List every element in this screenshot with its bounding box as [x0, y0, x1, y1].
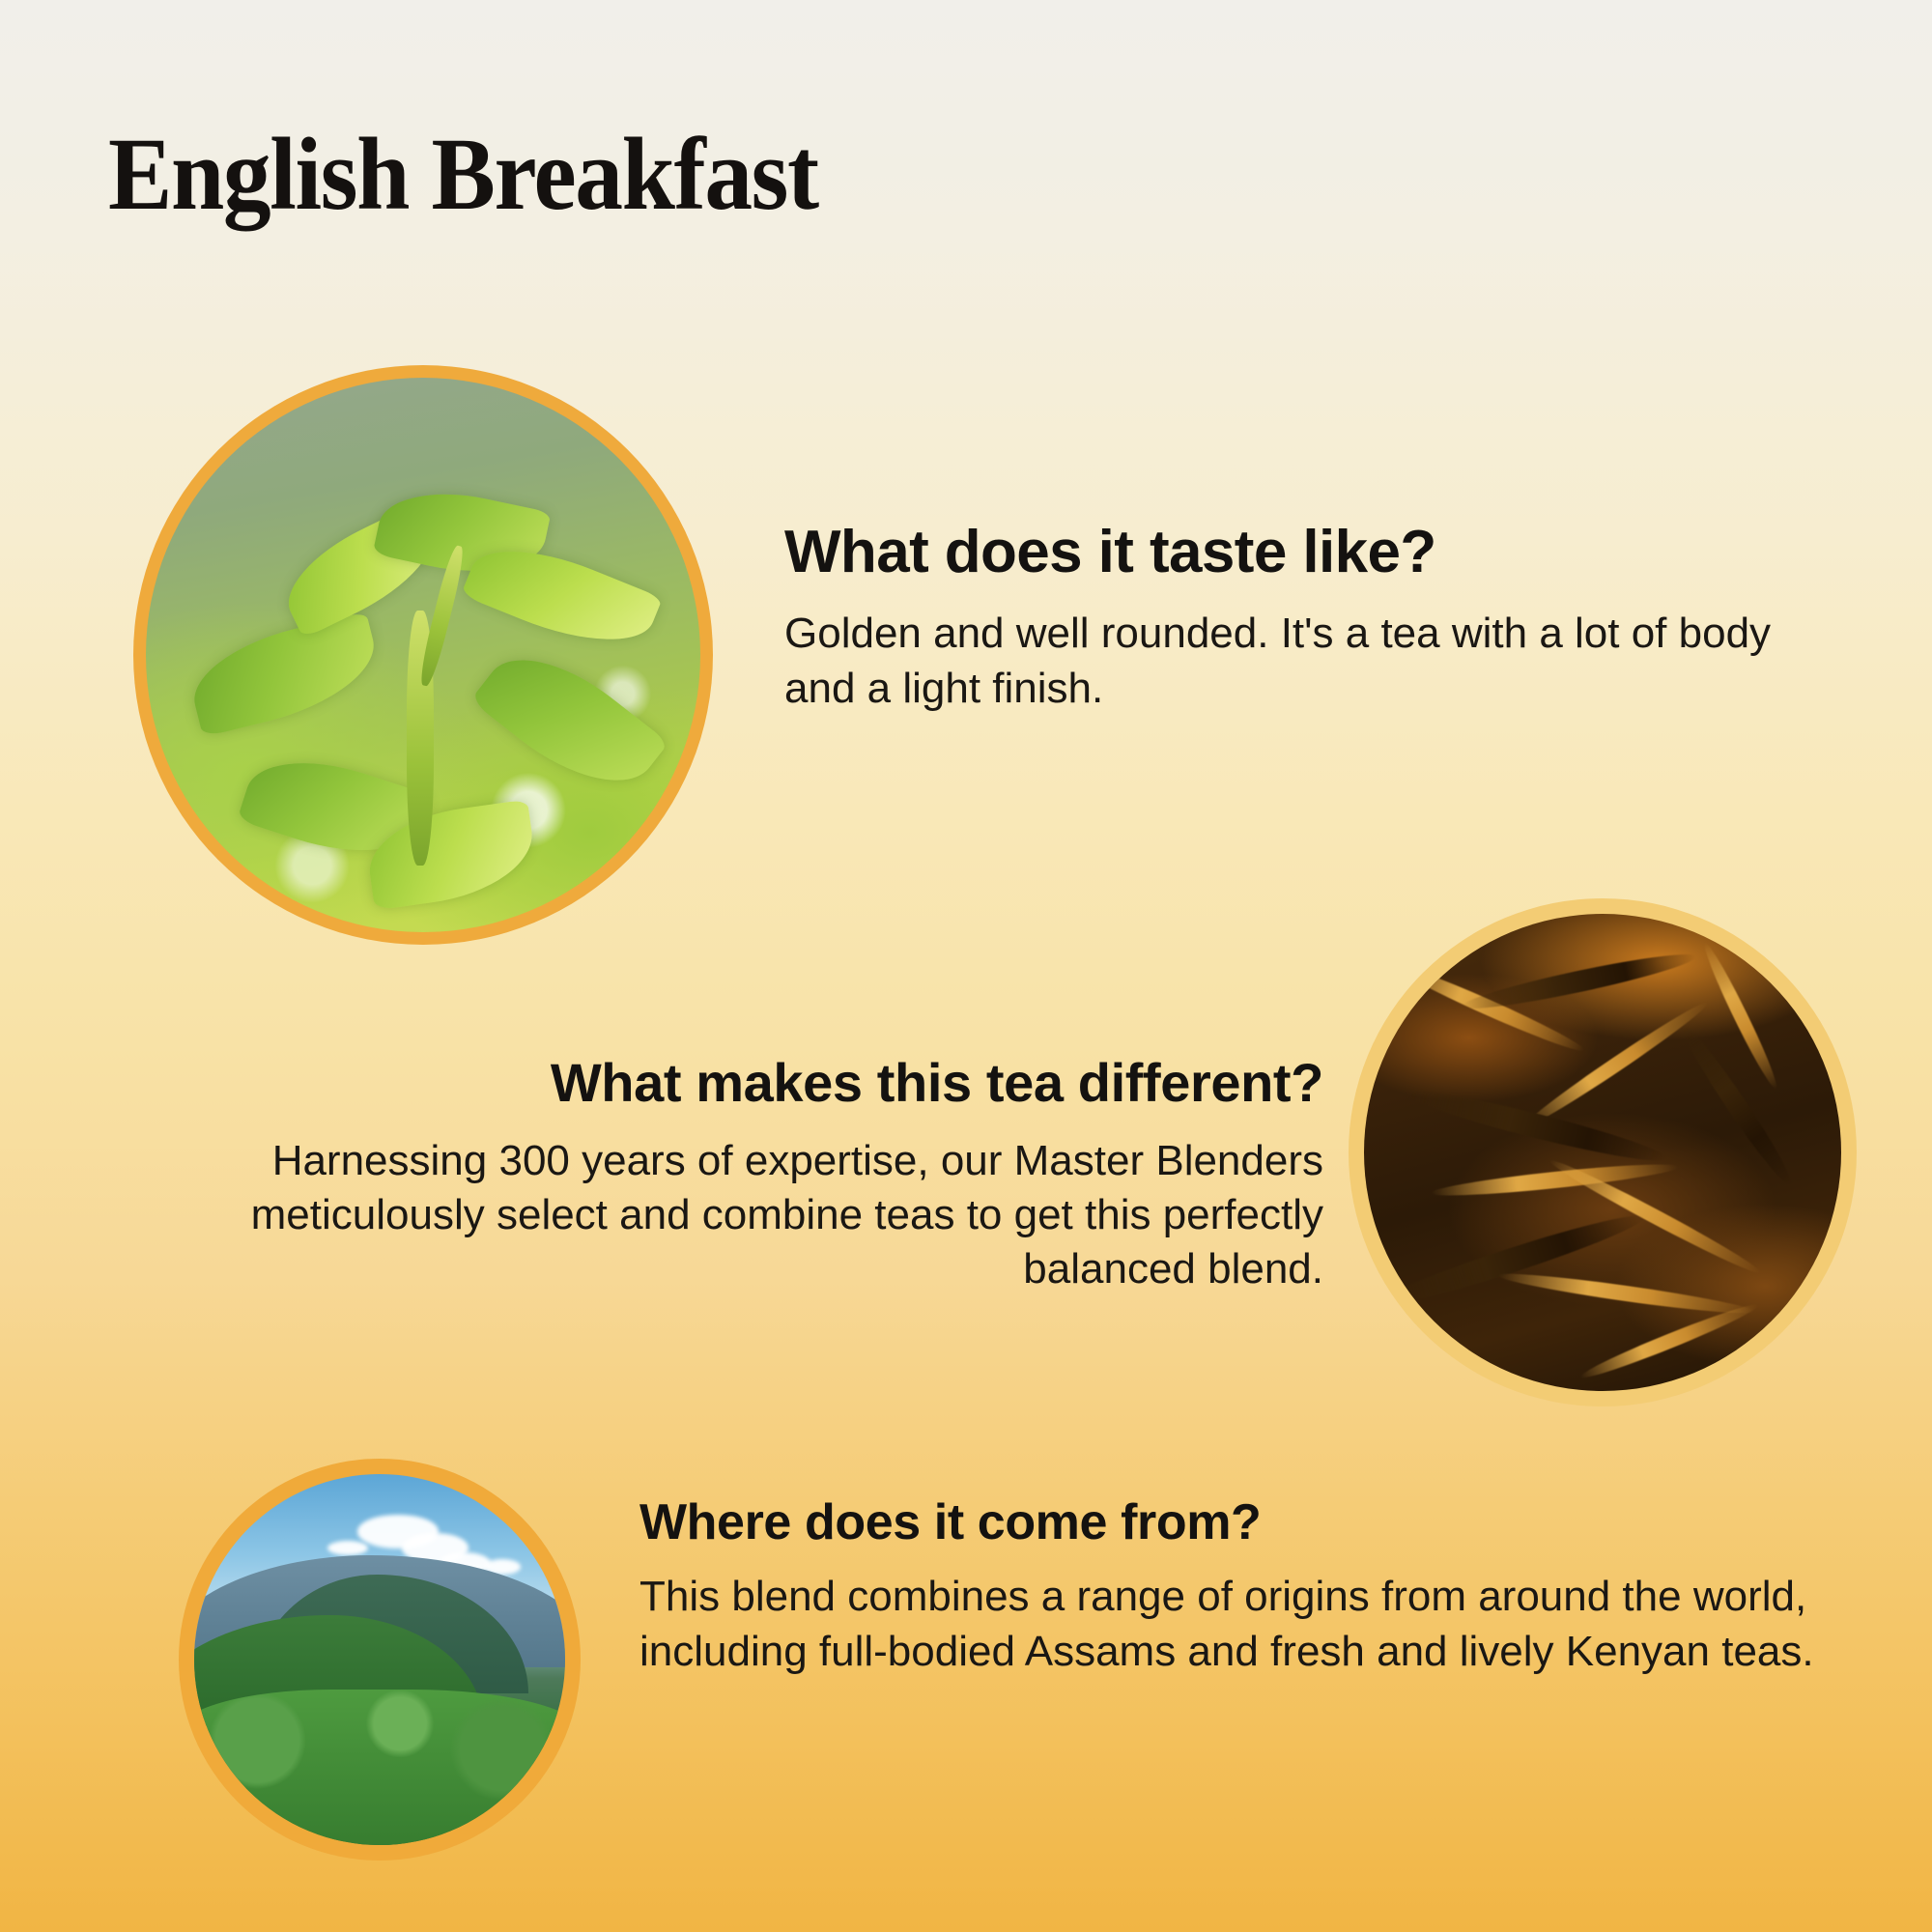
section-different: What makes this tea different? Harnessin… [203, 1053, 1323, 1297]
section-taste-heading: What does it taste like? [784, 520, 1789, 585]
tea-strand [1460, 947, 1697, 1017]
forest-canopy [194, 1690, 565, 1845]
tea-strand [1404, 1082, 1668, 1170]
section-origin-heading: Where does it come from? [639, 1495, 1837, 1550]
tea-origin-landscape-photo [194, 1474, 565, 1845]
tea-plant-photo [146, 378, 700, 932]
page-title: English Breakfast [108, 124, 818, 227]
tea-strand [1498, 1268, 1755, 1320]
leaf-shape [470, 630, 669, 812]
tea-strand [1521, 997, 1712, 1131]
section-origin-body: This blend combines a range of origins f… [639, 1570, 1837, 1679]
leaf-shape [183, 611, 385, 738]
tea-strand [1675, 1020, 1798, 1189]
section-origin: Where does it come from? This blend comb… [639, 1495, 1837, 1679]
tea-origin-image-frame [179, 1459, 581, 1861]
dried-tea-leaves-image-frame [1349, 898, 1857, 1406]
tea-strand [1578, 1298, 1761, 1383]
section-taste: What does it taste like? Golden and well… [784, 520, 1789, 716]
tea-plant-image-frame [133, 365, 713, 945]
cloud-shape [327, 1541, 368, 1555]
section-different-heading: What makes this tea different? [203, 1053, 1323, 1113]
dried-tea-leaves-photo [1364, 914, 1841, 1391]
section-taste-body: Golden and well rounded. It's a tea with… [784, 607, 1789, 716]
section-different-body: Harnessing 300 years of expertise, our M… [203, 1134, 1323, 1297]
